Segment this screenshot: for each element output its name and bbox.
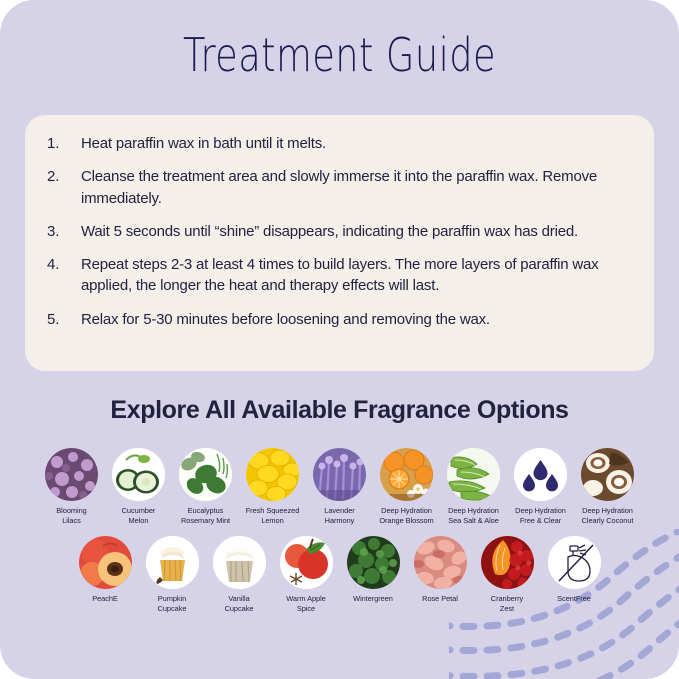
fragrance-option-peache[interactable]: PeachE — [72, 536, 139, 604]
fragrance-option-pumpkin-cupcake[interactable]: Pumpkin Cupcake — [139, 536, 206, 614]
oranges-blossom-icon — [380, 448, 433, 501]
cucumber-slices-icon — [112, 448, 165, 501]
vanilla-cupcake-icon — [213, 536, 266, 589]
fragrance-option-cucumber-melon[interactable]: Cucumber Melon — [105, 448, 172, 526]
apple-spice-icon — [280, 536, 333, 589]
fragrance-label: Warm Apple Spice — [286, 594, 325, 614]
step-text: Repeat steps 2-3 at least 4 times to bui… — [81, 254, 632, 297]
instructions-panel: 1. Heat paraffin wax in bath until it me… — [25, 115, 654, 371]
fragrance-label: Cranberry Zest — [491, 594, 523, 614]
step-number: 5. — [47, 309, 81, 330]
fragrance-label: Lavender Harmony — [324, 506, 354, 526]
cranberry-orange-icon — [481, 536, 534, 589]
step-text: Relax for 5-30 minutes before loosening … — [81, 309, 632, 330]
page-title: Treatment Guide — [68, 28, 611, 82]
water-droplets-icon — [514, 448, 567, 501]
fragrance-label: PeachE — [92, 594, 118, 604]
fragrance-label: Eucalyptus Rosemary Mint — [181, 506, 230, 526]
step-item: 4. Repeat steps 2-3 at least 4 times to … — [47, 254, 632, 297]
fragrance-row-2: PeachE Pumpkin Cupcake — [0, 536, 679, 614]
fragrance-label: Rose Petal — [422, 594, 458, 604]
fragrance-option-deep-hydration-orange-blossom[interactable]: Deep Hydration Orange Blossom — [373, 448, 440, 526]
fragrance-option-blooming-lilacs[interactable]: Blooming Lilacs — [38, 448, 105, 526]
fragrance-label: Pumpkin Cupcake — [158, 594, 187, 614]
coconut-icon — [581, 448, 634, 501]
step-text: Cleanse the treatment area and slowly im… — [81, 166, 632, 209]
pumpkin-cupcake-icon — [146, 536, 199, 589]
step-number: 3. — [47, 221, 81, 242]
fragrance-option-fresh-squeezed-lemon[interactable]: Fresh Squeezed Lemon — [239, 448, 306, 526]
step-item: 1. Heat paraffin wax in bath until it me… — [47, 133, 632, 154]
step-item: 5. Relax for 5-30 minutes before looseni… — [47, 309, 632, 330]
fragrance-option-deep-hydration-sea-salt-aloe[interactable]: Deep Hydration Sea Salt & Aloe — [440, 448, 507, 526]
fragrance-option-scentfree[interactable]: ScentFree — [541, 536, 608, 604]
fragrance-label: Fresh Squeezed Lemon — [246, 506, 300, 526]
fragrance-option-vanilla-cupcake[interactable]: Vanilla Cupcake — [206, 536, 273, 614]
fragrance-label: Deep Hydration Orange Blossom — [379, 506, 433, 526]
fragrance-label: Cucumber Melon — [122, 506, 156, 526]
fragrance-option-wintergreen[interactable]: Wintergreen — [340, 536, 407, 604]
fragrance-option-eucalyptus-rosemary-mint[interactable]: Eucalyptus Rosemary Mint — [172, 448, 239, 526]
fragrance-option-rose-petal[interactable]: Rose Petal — [407, 536, 474, 604]
lemons-icon — [246, 448, 299, 501]
fragrance-row-1: Blooming Lilacs Cucumber Melon — [0, 448, 679, 526]
fragrance-label: Deep Hydration Sea Salt & Aloe — [448, 506, 499, 526]
eucalyptus-mint-leaves-icon — [179, 448, 232, 501]
lilac-flowers-icon — [45, 448, 98, 501]
no-scent-bottle-icon — [548, 536, 601, 589]
fragrance-label: ScentFree — [557, 594, 591, 604]
step-text: Wait 5 seconds until “shine” disappears,… — [81, 221, 632, 242]
step-text: Heat paraffin wax in bath until it melts… — [81, 133, 632, 154]
fragrance-option-deep-hydration-free-clear[interactable]: Deep Hydration Free & Clear — [507, 448, 574, 526]
step-number: 2. — [47, 166, 81, 187]
lavender-field-icon — [313, 448, 366, 501]
step-item: 3. Wait 5 seconds until “shine” disappea… — [47, 221, 632, 242]
fragrance-section-heading: Explore All Available Fragrance Options — [0, 396, 679, 425]
step-number: 4. — [47, 254, 81, 275]
step-item: 2. Cleanse the treatment area and slowly… — [47, 166, 632, 209]
aloe-stalks-icon — [447, 448, 500, 501]
fragrance-option-cranberry-zest[interactable]: Cranberry Zest — [474, 536, 541, 614]
fragrance-option-deep-hydration-clearly-coconut[interactable]: Deep Hydration Clearly Coconut — [574, 448, 641, 526]
wintergreen-leaves-icon — [347, 536, 400, 589]
fragrance-option-warm-apple-spice[interactable]: Warm Apple Spice — [273, 536, 340, 614]
step-number: 1. — [47, 133, 81, 154]
fragrance-label: Wintergreen — [353, 594, 393, 604]
peaches-icon — [79, 536, 132, 589]
fragrance-option-lavender-harmony[interactable]: Lavender Harmony — [306, 448, 373, 526]
fragrance-label: Vanilla Cupcake — [225, 594, 254, 614]
fragrance-label: Deep Hydration Clearly Coconut — [582, 506, 634, 526]
fragrance-label: Blooming Lilacs — [56, 506, 86, 526]
fragrance-label: Deep Hydration Free & Clear — [515, 506, 566, 526]
treatment-guide-card: Treatment Guide 1. Heat paraffin wax in … — [0, 0, 679, 679]
rose-petals-icon — [414, 536, 467, 589]
